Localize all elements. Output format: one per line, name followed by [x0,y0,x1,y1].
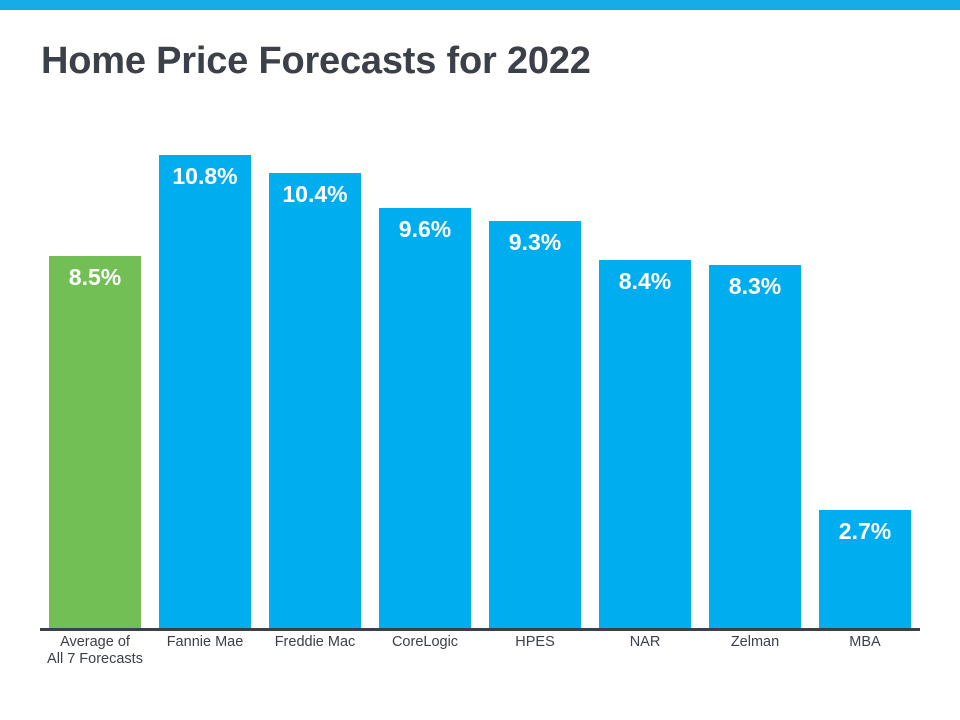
x-axis-label: MBA [810,634,920,651]
x-axis-label: CoreLogic [370,634,480,651]
chart-plot-area: 8.5%10.8%10.4%9.6%9.3%8.4%8.3%2.7% [40,120,920,628]
bar[interactable]: 9.6% [379,208,471,628]
bar-group: 2.7% [819,120,911,628]
bar-group: 8.4% [599,120,691,628]
bar-value-label: 8.3% [709,274,801,298]
bar[interactable]: 2.7% [819,510,911,628]
bar-value-label: 2.7% [819,519,911,543]
bar[interactable]: 10.8% [159,155,251,628]
x-axis-label: Average ofAll 7 Forecasts [40,634,150,668]
bar[interactable]: 8.4% [599,260,691,628]
page-title: Home Price Forecasts for 2022 [41,40,591,83]
bar-group: 8.3% [709,120,801,628]
bar-group: 9.3% [489,120,581,628]
bar-value-label: 8.4% [599,269,691,293]
bar-group: 10.8% [159,120,251,628]
bar-value-label: 9.3% [489,230,581,254]
bar[interactable]: 9.3% [489,221,581,628]
bar[interactable]: 10.4% [269,173,361,628]
x-axis-label: NAR [590,634,700,651]
x-axis-label: Freddie Mac [260,634,370,651]
bar[interactable]: 8.5% [49,256,141,628]
bar-group: 9.6% [379,120,471,628]
bar-value-label: 9.6% [379,217,471,241]
x-axis-line [40,628,920,631]
top-accent-bar [0,0,960,10]
bar-value-label: 8.5% [49,265,141,289]
bar-group: 10.4% [269,120,361,628]
bar-chart: 8.5%10.8%10.4%9.6%9.3%8.4%8.3%2.7% [40,120,920,630]
bar-value-label: 10.4% [269,182,361,206]
bar-group: 8.5% [49,120,141,628]
x-axis-label: Zelman [700,634,810,651]
bar-value-label: 10.8% [159,164,251,188]
x-axis-category-labels: Average ofAll 7 ForecastsFannie MaeFredd… [40,634,920,684]
bar[interactable]: 8.3% [709,265,801,628]
slide-canvas: Home Price Forecasts for 2022 8.5%10.8%1… [0,0,960,720]
x-axis-label: HPES [480,634,590,651]
x-axis-label: Fannie Mae [150,634,260,651]
